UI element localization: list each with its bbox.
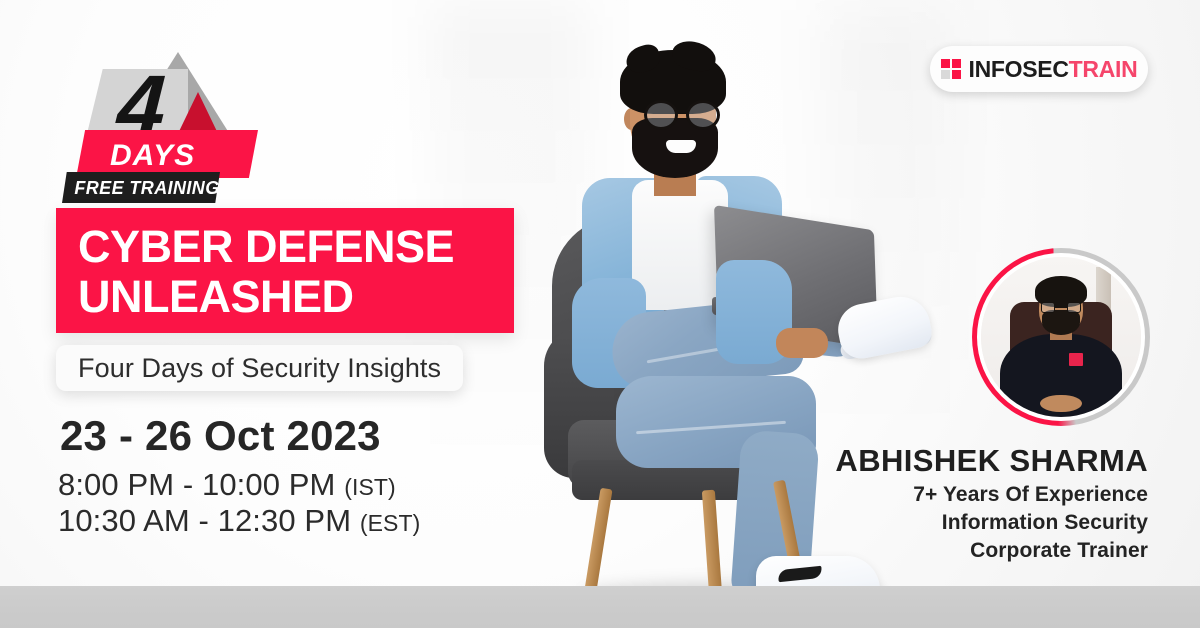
subtitle-pill: Four Days of Security Insights: [56, 345, 463, 391]
days-label: DAYS: [110, 140, 230, 172]
free-training-label: FREE TRAINING: [72, 178, 222, 198]
glasses-lens-right: [686, 100, 720, 130]
glasses-lens-left: [644, 100, 678, 130]
promo-banner: 4 DAYS FREE TRAINING CYBER DEFENSE UNLEA…: [0, 0, 1200, 628]
logo-square: [941, 70, 950, 79]
hand: [776, 328, 828, 358]
avatar-glasses-left: [1041, 302, 1055, 313]
avatar-hands: [1040, 395, 1082, 413]
speaker-name: ABHISHEK SHARMA: [0, 443, 1148, 479]
speaker-role: Corporate Trainer: [0, 537, 1148, 565]
logo-square: [941, 59, 950, 68]
title-line-1: CYBER DEFENSE: [78, 222, 508, 272]
avatar-glasses-bridge: [1055, 307, 1066, 309]
speaker-credentials: 7+ Years Of Experience Information Secur…: [0, 481, 1148, 565]
infosectrain-logo[interactable]: INFOSECTRAIN: [930, 46, 1148, 92]
glasses-bridge: [677, 110, 688, 113]
mouth: [666, 140, 696, 153]
speaker-experience: 7+ Years Of Experience: [0, 481, 1148, 509]
four-days-badge: 4 DAYS FREE TRAINING: [62, 52, 292, 197]
page-title: CYBER DEFENSE UNLEASHED: [78, 222, 508, 322]
logo-grid-icon: [941, 59, 961, 79]
logo-square: [952, 59, 961, 68]
avatar-glasses-right: [1067, 302, 1081, 313]
avatar-photo: [981, 257, 1141, 417]
white-tshirt: [632, 180, 728, 310]
speaker-avatar: [972, 248, 1150, 426]
floor-strip: [0, 586, 1200, 628]
title-banner: CYBER DEFENSE UNLEASHED: [56, 208, 514, 333]
logo-wordmark: INFOSECTRAIN: [969, 56, 1138, 83]
subtitle-text: Four Days of Security Insights: [78, 353, 441, 384]
logo-word-infosec: INFOSEC: [969, 56, 1069, 82]
logo-square: [952, 70, 961, 79]
speaker-domain: Information Security: [0, 509, 1148, 537]
title-line-2: UNLEASHED: [78, 272, 508, 322]
avatar-shirt-logo: [1069, 353, 1083, 366]
logo-word-train: TRAIN: [1069, 56, 1138, 82]
